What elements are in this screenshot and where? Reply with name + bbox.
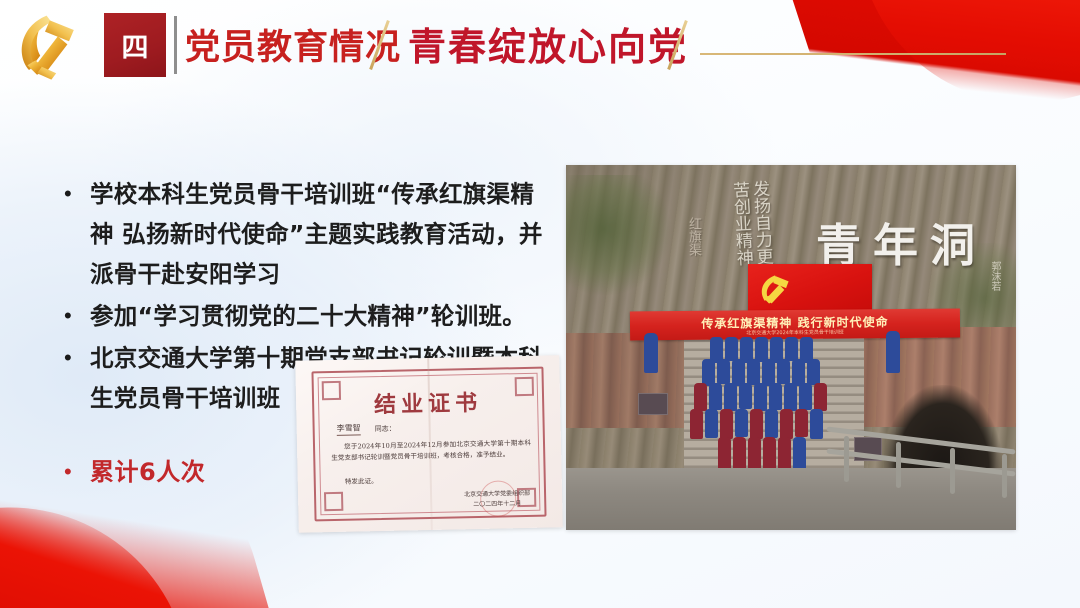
page-title: 党员教育情况 xyxy=(185,19,401,70)
bullet-marker-icon: • xyxy=(58,296,90,336)
wooden-railing xyxy=(826,432,1016,496)
hammer-sickle-glyph-icon xyxy=(758,272,792,306)
gold-rule xyxy=(700,53,1006,55)
certificate-issuer: 北京交通大学党委组织部 二〇二四年十二月 xyxy=(464,489,530,510)
event-banner: 传承红旗渠精神 践行新时代使命 北京交通大学2024年本科生党员骨干培训班 xyxy=(630,309,960,341)
rock-carving-column-text-2: 红旗渠 xyxy=(684,217,703,312)
certificate-comrade-suffix: 同志： xyxy=(375,424,396,434)
bullet-marker-icon: • xyxy=(58,338,90,378)
header-divider xyxy=(174,16,177,74)
list-item: • 学校本科生党员骨干培训班“传承红旗渠精神 弘扬新时代使命”主题实践教育活动，… xyxy=(58,174,548,294)
certificate-corner-ornament xyxy=(324,492,343,511)
certificate-body-text: 您于2024年10月至2024年12月参加北京交通大学第十期本科生党支部书记轮训… xyxy=(331,438,531,464)
slide-header: 四 党员教育情况 青春绽放心向党 xyxy=(0,0,1080,96)
rock-carving-signature: 郭沫若 xyxy=(987,261,1002,305)
certificate-image: 结业证书 李雪智 同志： 您于2024年10月至2024年12月参加北京交通大学… xyxy=(295,355,563,532)
bullet-marker-icon: • xyxy=(58,174,90,214)
total-count-row: • 累计6人次 xyxy=(58,455,205,489)
section-number-label: 四 xyxy=(122,26,149,65)
certificate-issue-date: 二〇二四年十二月 xyxy=(464,499,530,510)
total-count-label: 累计6人次 xyxy=(90,455,205,489)
bullet-marker-icon: • xyxy=(58,455,90,489)
section-number-box: 四 xyxy=(104,13,166,77)
certificate-title: 结业证书 xyxy=(296,383,561,421)
bullet-text: 学校本科生党员骨干培训班“传承红旗渠精神 弘扬新时代使命”主题实践教育活动，并派… xyxy=(90,174,548,294)
participant-side-left xyxy=(644,333,658,373)
foliage-left xyxy=(566,175,670,295)
event-banner-subtext: 北京交通大学2024年本科生党员骨干培训班 xyxy=(630,328,960,338)
participant-row xyxy=(690,409,823,439)
group-photo-image: 发扬自力更生艰苦创业精神 红旗渠 青年洞 郭沫若 传承红旗渠精神 践行新时代使命… xyxy=(566,165,1016,530)
slide-canvas: 四 党员教育情况 青春绽放心向党 • 学校本科生党员骨干培训班“传承红旗渠精神 … xyxy=(0,0,1080,608)
certificate-body-text-2: 特发此证。 xyxy=(332,475,378,486)
certificate-recipient-name: 李雪智 xyxy=(337,422,361,435)
party-flag-icon xyxy=(748,264,872,316)
participant-row xyxy=(694,383,827,411)
list-item: • 参加“学习贯彻党的二十大精神”轮训班。 xyxy=(58,296,548,336)
participant-side-right xyxy=(886,331,900,373)
cpc-emblem-icon xyxy=(12,6,94,86)
participant-row xyxy=(702,359,820,386)
bullet-text: 参加“学习贯彻党的二十大精神”轮训班。 xyxy=(90,296,548,336)
stone-bridge-wall-left xyxy=(566,333,688,428)
info-plaque-left xyxy=(638,393,668,415)
page-subtitle: 青春绽放心向党 xyxy=(408,16,688,71)
